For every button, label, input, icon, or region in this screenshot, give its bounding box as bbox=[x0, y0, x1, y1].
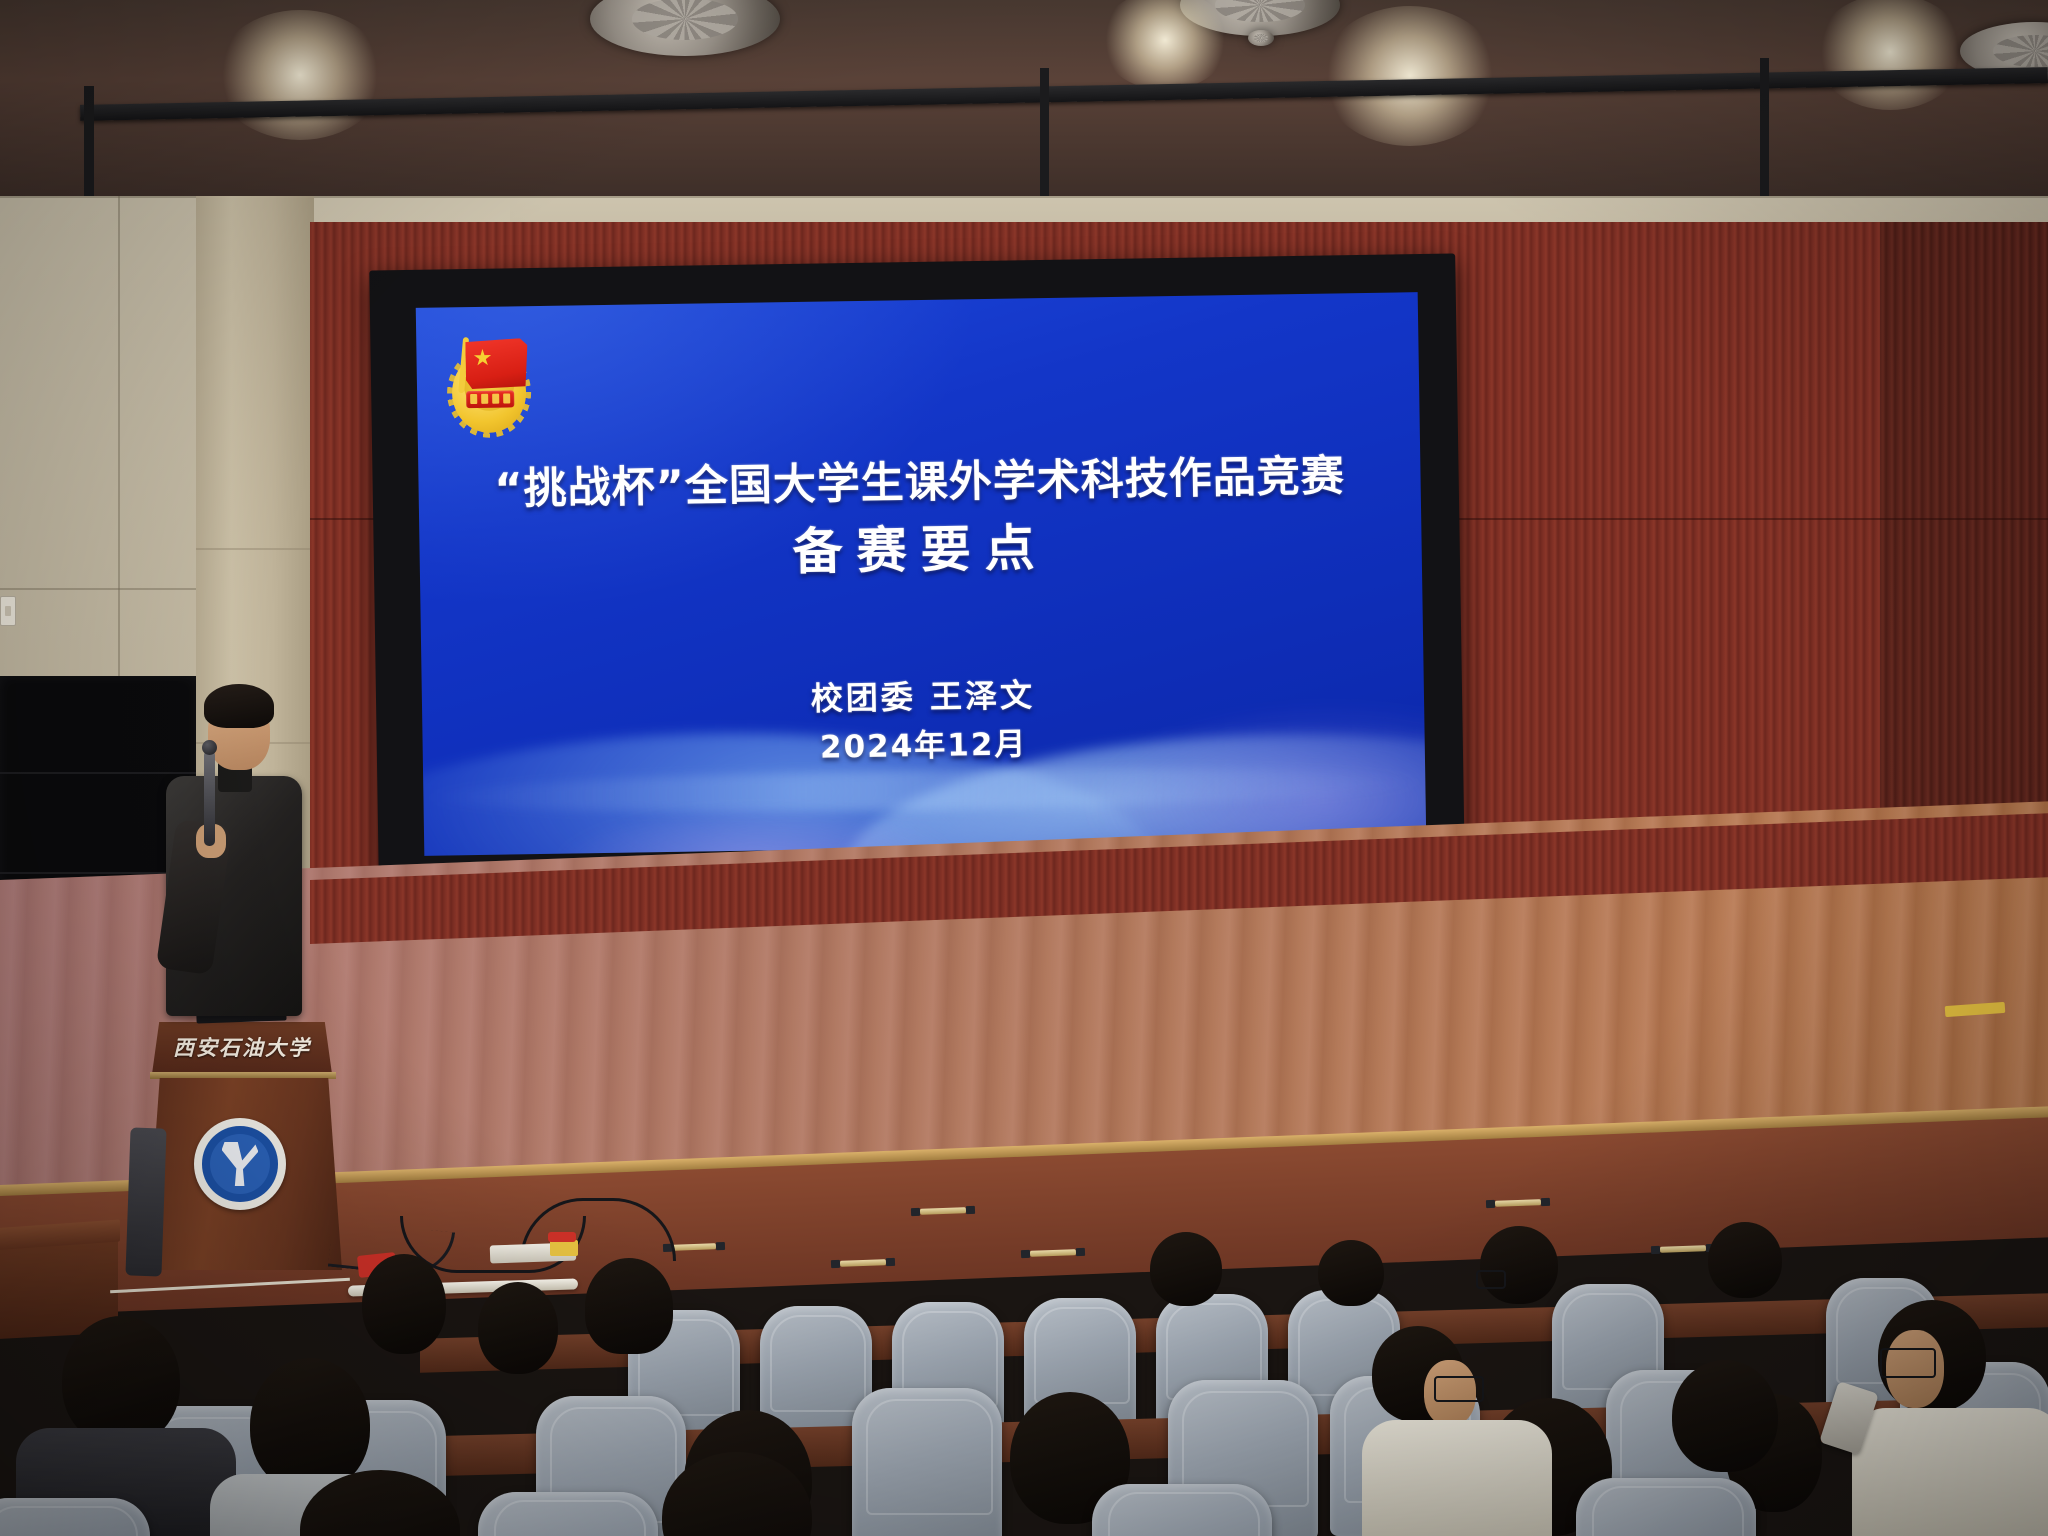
auditorium-scene: “挑战杯”全国大学生课外学术科技作品竞赛 备赛要点 校团委 王泽文 2024年1… bbox=[0, 0, 2048, 1536]
pillar-seam bbox=[196, 548, 314, 550]
speaker-hair bbox=[204, 684, 274, 728]
stage-floor-tape-mark bbox=[1660, 1245, 1706, 1253]
eyeglasses[interactable] bbox=[1880, 1348, 1936, 1378]
audience-head bbox=[478, 1282, 558, 1374]
handheld-microphone[interactable] bbox=[204, 750, 215, 846]
audience-head bbox=[1318, 1240, 1384, 1306]
auditorium-seat[interactable] bbox=[478, 1492, 658, 1536]
university-logo bbox=[194, 1118, 286, 1210]
podium-bag bbox=[125, 1127, 166, 1276]
audience-head bbox=[585, 1258, 673, 1354]
speaker-person bbox=[160, 672, 320, 1022]
audience-shoulders bbox=[1852, 1408, 2048, 1536]
eyeglasses[interactable] bbox=[1434, 1376, 1484, 1402]
audience-head bbox=[62, 1316, 180, 1446]
audience-shoulders bbox=[1362, 1420, 1552, 1536]
stage-prop-yellow-marker bbox=[550, 1240, 578, 1256]
stage-prop-red-marker bbox=[548, 1232, 576, 1242]
eyeglasses bbox=[1476, 1270, 1506, 1289]
audience-head bbox=[1708, 1222, 1782, 1298]
emblem-text-band bbox=[466, 390, 514, 408]
emblem-red-flag bbox=[465, 338, 528, 389]
wall-power-outlet[interactable] bbox=[0, 596, 16, 626]
ceiling-vent bbox=[1248, 30, 1274, 46]
slide-subtitle: 备赛要点 bbox=[419, 502, 1422, 590]
ceiling-lamp-glow bbox=[215, 10, 385, 140]
audience-head bbox=[250, 1358, 370, 1492]
audience-head bbox=[362, 1254, 446, 1354]
audience-head bbox=[1672, 1360, 1778, 1472]
presentation-screen[interactable]: “挑战杯”全国大学生课外学术科技作品竞赛 备赛要点 校团委 王泽文 2024年1… bbox=[416, 292, 1426, 856]
auditorium-seat[interactable] bbox=[1576, 1478, 1756, 1536]
audience-head bbox=[1150, 1232, 1222, 1306]
podium-trim bbox=[150, 1072, 336, 1079]
auditorium-seat[interactable] bbox=[852, 1388, 1002, 1536]
ceiling-lamp-glow bbox=[1320, 6, 1500, 146]
communist-youth-league-emblem bbox=[451, 338, 539, 439]
podium-university-name: 西安石油大学 bbox=[152, 1032, 332, 1062]
auditorium-seat[interactable] bbox=[0, 1498, 150, 1536]
auditorium-seat[interactable] bbox=[1092, 1484, 1272, 1536]
audience-head bbox=[1480, 1226, 1558, 1304]
